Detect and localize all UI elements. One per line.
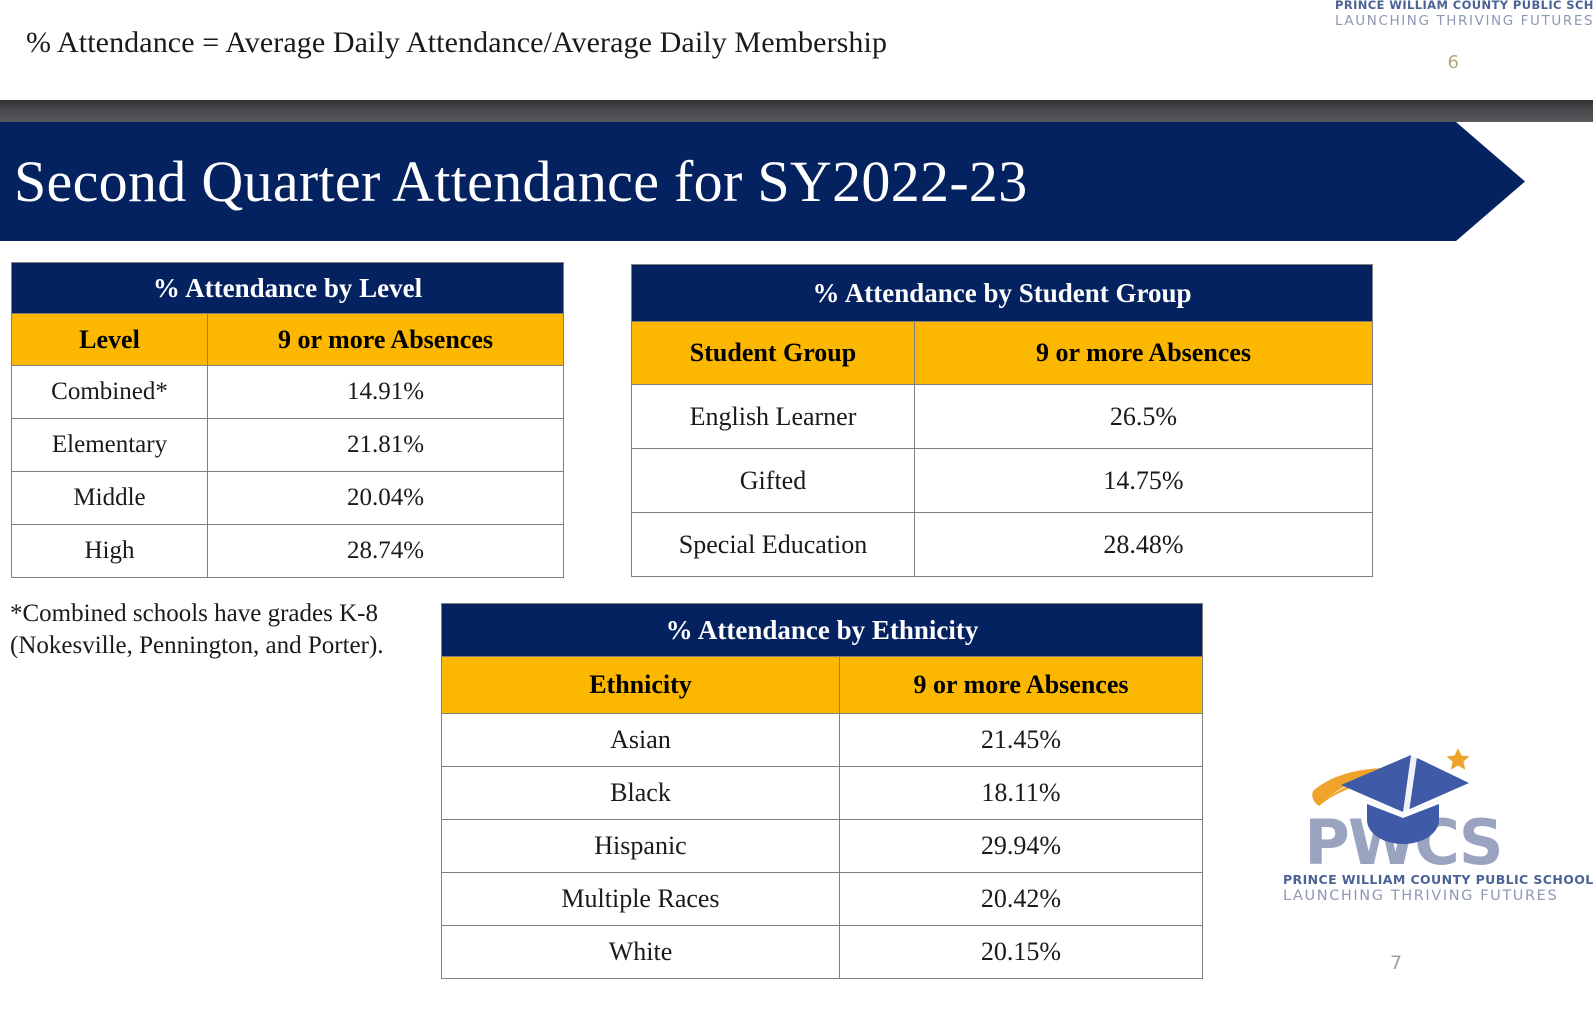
table-row: Black 18.11%: [442, 767, 1203, 820]
cell-level-name: Middle: [12, 472, 208, 525]
cell-ethnicity-name: Asian: [442, 714, 840, 767]
table-row: Asian 21.45%: [442, 714, 1203, 767]
pwcs-logo-top-partial: PRINCE WILLIAM COUNTY PUBLIC SCHOOLS LAU…: [1335, 0, 1565, 29]
pwcs-logo-bottom: PWCS PRINCE WILLIAM COUNTY PUBLIC SCHOOL…: [1283, 742, 1523, 904]
cell-group-name: Gifted: [632, 449, 915, 513]
column-header-level: Level: [12, 314, 208, 366]
table-attendance-by-ethnicity: % Attendance by Ethnicity Ethnicity 9 or…: [441, 603, 1203, 979]
pwcs-logo-bottom-line1: PRINCE WILLIAM COUNTY PUBLIC SCHOOLS: [1283, 872, 1523, 887]
pwcs-logo-top-line2: LAUNCHING THRIVING FUTURES: [1335, 13, 1565, 29]
cell-level-value: 14.91%: [208, 366, 564, 419]
cell-level-name: High: [12, 525, 208, 578]
cell-ethnicity-value: 21.45%: [840, 714, 1203, 767]
table-title: % Attendance by Student Group: [632, 265, 1373, 322]
column-header-absences: 9 or more Absences: [840, 657, 1203, 714]
cell-level-name: Combined*: [12, 366, 208, 419]
slide-title: Second Quarter Attendance for SY2022-23: [0, 153, 1028, 211]
table-title-row: % Attendance by Student Group: [632, 265, 1373, 322]
footnote-line-2: (Nokesville, Pennington, and Porter).: [10, 630, 440, 662]
table-header-row: Ethnicity 9 or more Absences: [442, 657, 1203, 714]
cell-level-value: 28.74%: [208, 525, 564, 578]
table-header-row: Level 9 or more Absences: [12, 314, 564, 366]
pwcs-logo-bottom-line2: LAUNCHING THRIVING FUTURES: [1283, 888, 1523, 904]
table-row: Gifted 14.75%: [632, 449, 1373, 513]
table-header-row: Student Group 9 or more Absences: [632, 322, 1373, 385]
cell-ethnicity-value: 29.94%: [840, 820, 1203, 873]
column-header-absences: 9 or more Absences: [208, 314, 564, 366]
page-number-bottom: 7: [1390, 952, 1402, 974]
cell-ethnicity-value: 20.15%: [840, 926, 1203, 979]
table-title-row: % Attendance by Ethnicity: [442, 604, 1203, 657]
column-header-ethnicity: Ethnicity: [442, 657, 840, 714]
page-number-top: 6: [1448, 52, 1459, 73]
table-title: % Attendance by Ethnicity: [442, 604, 1203, 657]
table-title-row: % Attendance by Level: [12, 263, 564, 314]
cell-ethnicity-value: 18.11%: [840, 767, 1203, 820]
cell-group-name: English Learner: [632, 385, 915, 449]
cell-ethnicity-name: Black: [442, 767, 840, 820]
cell-ethnicity-value: 20.42%: [840, 873, 1203, 926]
table-attendance-by-student-group: % Attendance by Student Group Student Gr…: [631, 264, 1373, 577]
table-row: Hispanic 29.94%: [442, 820, 1203, 873]
table-row: Elementary 21.81%: [12, 419, 564, 472]
slide-divider-bar: [0, 100, 1593, 122]
column-header-absences: 9 or more Absences: [915, 322, 1373, 385]
pwcs-logo-top-line1: PRINCE WILLIAM COUNTY PUBLIC SCHOOLS: [1335, 0, 1565, 12]
cell-ethnicity-name: Hispanic: [442, 820, 840, 873]
attendance-formula-text: % Attendance = Average Daily Attendance/…: [26, 26, 887, 60]
cell-level-value: 21.81%: [208, 419, 564, 472]
slide-title-banner: Second Quarter Attendance for SY2022-23: [0, 122, 1525, 241]
cell-level-value: 20.04%: [208, 472, 564, 525]
combined-schools-footnote: *Combined schools have grades K-8 (Nokes…: [10, 598, 440, 661]
table-title: % Attendance by Level: [12, 263, 564, 314]
table-row: White 20.15%: [442, 926, 1203, 979]
cell-group-value: 28.48%: [915, 513, 1373, 577]
table-attendance-by-level: % Attendance by Level Level 9 or more Ab…: [11, 262, 564, 578]
cell-ethnicity-name: Multiple Races: [442, 873, 840, 926]
table-row: Combined* 14.91%: [12, 366, 564, 419]
column-header-student-group: Student Group: [632, 322, 915, 385]
table-row: Middle 20.04%: [12, 472, 564, 525]
footnote-line-1: *Combined schools have grades K-8: [10, 598, 440, 630]
table-row: Multiple Races 20.42%: [442, 873, 1203, 926]
cell-group-name: Special Education: [632, 513, 915, 577]
table-row: High 28.74%: [12, 525, 564, 578]
cell-group-value: 14.75%: [915, 449, 1373, 513]
cell-level-name: Elementary: [12, 419, 208, 472]
cell-ethnicity-name: White: [442, 926, 840, 979]
table-row: English Learner 26.5%: [632, 385, 1373, 449]
cell-group-value: 26.5%: [915, 385, 1373, 449]
table-row: Special Education 28.48%: [632, 513, 1373, 577]
graduation-cap-icon-bottom: [1283, 742, 1523, 850]
